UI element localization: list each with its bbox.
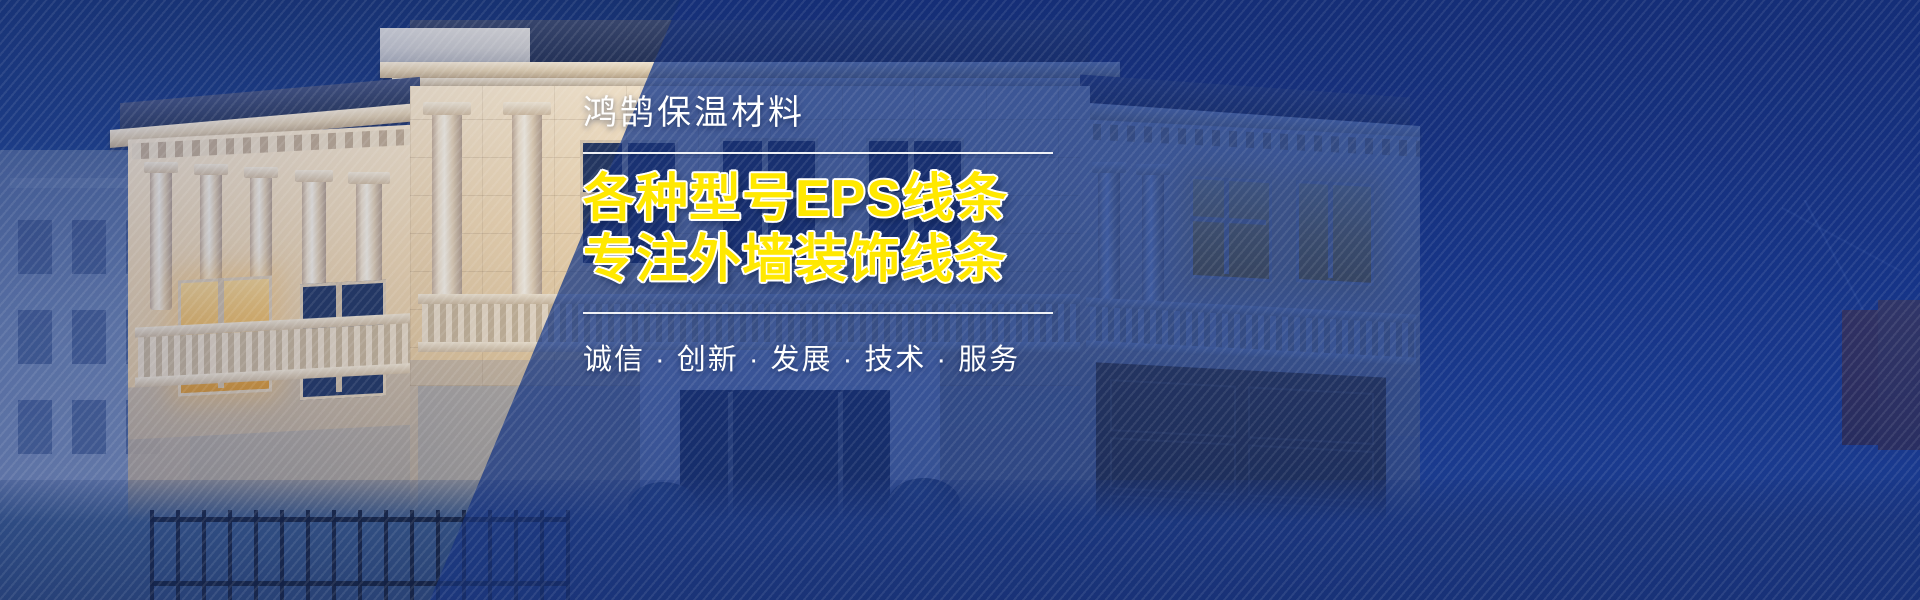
headline-line-1: 各种型号EPS线条 bbox=[583, 172, 1053, 227]
headline-line-2: 专注外墙装饰线条 bbox=[583, 233, 1053, 288]
brand-name: 鸿鹄保温材料 bbox=[583, 96, 1053, 130]
tagline: 诚信 · 创新 · 发展 · 技术 · 服务 bbox=[583, 336, 1053, 378]
divider-top bbox=[583, 152, 1053, 154]
divider-bottom bbox=[583, 312, 1053, 314]
banner-text-block: 鸿鹄保温材料 各种型号EPS线条 专注外墙装饰线条 诚信 · 创新 · 发展 ·… bbox=[583, 96, 1053, 378]
hero-banner: 鸿鹄保温材料 各种型号EPS线条 专注外墙装饰线条 诚信 · 创新 · 发展 ·… bbox=[0, 0, 1920, 600]
